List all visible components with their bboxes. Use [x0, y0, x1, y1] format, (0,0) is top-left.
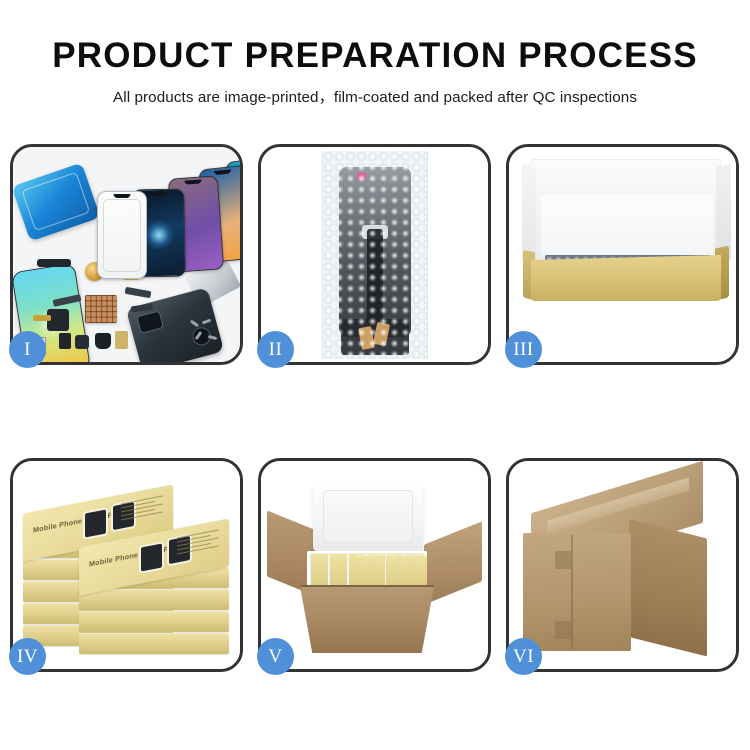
bubble-wrap-sleeve [322, 151, 428, 359]
step-6-image [509, 461, 736, 669]
carton-tab-bottom [555, 621, 571, 639]
small-component-3 [95, 333, 111, 349]
process-step-4: Mobile Phone Spare Parts Mobile Phone Sp… [10, 458, 243, 672]
step-badge-3: III [505, 331, 542, 368]
flex-cable-part-3 [33, 315, 51, 321]
foam-sheet [541, 195, 713, 255]
header: PRODUCT PREPARATION PROCESS All products… [0, 0, 750, 107]
battery-connector-part [115, 331, 128, 349]
step-badge-4: IV [9, 638, 46, 675]
small-component-1 [59, 333, 71, 349]
process-step-1: I [10, 144, 243, 365]
chip-grid-part [85, 295, 117, 323]
step-5-image [261, 461, 488, 669]
screen-glass-panel [97, 191, 147, 279]
speaker-part [37, 259, 71, 267]
step-1-image [13, 147, 240, 362]
process-step-grid: I II [10, 144, 740, 672]
carton-tab-top [555, 551, 571, 569]
foam-liner-lid [313, 481, 423, 553]
carton-seam [571, 535, 573, 649]
qc-sticker [357, 173, 366, 180]
process-step-3: III [506, 144, 739, 365]
page-subtitle: All products are image-printed，film-coat… [0, 75, 750, 107]
stacked-box-right-4 [79, 611, 229, 632]
step-badge-2: II [257, 331, 294, 368]
step-2-image [261, 147, 488, 362]
step-4-image: Mobile Phone Spare Parts Mobile Phone Sp… [13, 461, 240, 669]
process-step-2: II [258, 144, 491, 365]
stacked-box-right-5 [79, 633, 229, 654]
carton-side-face [629, 519, 707, 656]
box-stack: Mobile Phone Spare Parts Mobile Phone Sp… [21, 475, 233, 665]
step-badge-1: I [9, 331, 46, 368]
step-badge-6: VI [505, 638, 542, 675]
box-art-phone-1 [85, 509, 106, 537]
small-component-2 [75, 335, 89, 349]
process-step-5: V [258, 458, 491, 672]
process-step-6: VI [506, 458, 739, 672]
box-spec-lines-right [177, 529, 219, 557]
step-3-image [509, 147, 736, 362]
product-preparation-infographic: PRODUCT PREPARATION PROCESS All products… [0, 0, 750, 750]
screws-group [188, 318, 228, 348]
box-art-phone-3 [141, 543, 162, 571]
phone-screen-fan [25, 155, 240, 273]
box-spec-lines-left [121, 495, 163, 523]
carton-front-face [523, 533, 631, 651]
carton-body [291, 587, 443, 653]
lcd-flex-cable [367, 229, 383, 325]
step-badge-5: V [257, 638, 294, 675]
page-title: PRODUCT PREPARATION PROCESS [0, 0, 750, 75]
stacked-box-right-3 [79, 589, 229, 610]
